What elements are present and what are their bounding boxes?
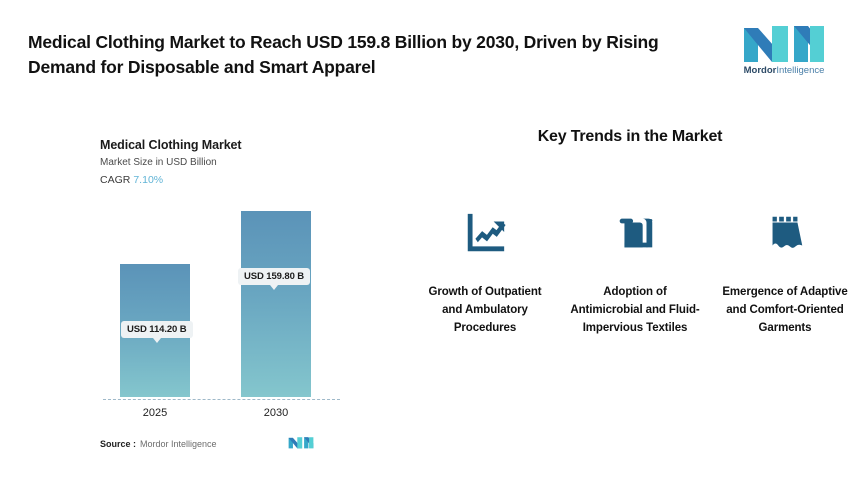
bar-chart-plot: USD 114.20 B USD 159.80 B 2025 2030 Sour… <box>0 195 400 465</box>
garment-skirt-icon <box>762 210 808 256</box>
source-label: Source : <box>100 439 136 449</box>
cagr-row: CAGR7.10% <box>100 174 163 186</box>
mordor-m-mark-icon <box>288 435 314 450</box>
x-axis-tick-2025: 2025 <box>120 407 190 419</box>
bar-value-label-2030: USD 159.80 B <box>238 268 310 285</box>
source-name: Mordor Intelligence <box>140 439 217 449</box>
trend-item-textiles: Adoption of Antimicrobial and Fluid-Impe… <box>570 210 700 337</box>
trends-panel: Key Trends in the Market Growth of Outpa… <box>400 118 860 458</box>
trend-item-growth: Growth of Outpatient and Ambulatory Proc… <box>420 210 550 337</box>
cagr-label: CAGR <box>100 174 130 186</box>
trend-item-garments: Emergence of Adaptive and Comfort-Orient… <box>720 210 850 337</box>
page-header: Medical Clothing Market to Reach USD 159… <box>0 0 860 105</box>
trend-label-garments: Emergence of Adaptive and Comfort-Orient… <box>720 284 850 337</box>
trend-label-growth: Growth of Outpatient and Ambulatory Proc… <box>420 284 550 337</box>
towel-textile-icon <box>612 210 658 256</box>
chart-title: Medical Clothing Market <box>100 138 241 152</box>
chart-panel: Medical Clothing Market Market Size in U… <box>0 125 400 465</box>
brand-logo: MordorIntelligence <box>736 24 832 86</box>
page-title: Medical Clothing Market to Reach USD 159… <box>28 30 718 81</box>
brand-wordmark-light: Intelligence <box>776 65 824 76</box>
brand-wordmark: MordorIntelligence <box>736 65 832 77</box>
trends-heading: Key Trends in the Market <box>400 128 860 146</box>
growth-chart-icon <box>462 210 508 256</box>
trend-label-textiles: Adoption of Antimicrobial and Fluid-Impe… <box>570 284 700 337</box>
mordor-m-mark-icon <box>742 24 826 62</box>
reference-line <box>103 399 340 400</box>
x-axis-tick-2030: 2030 <box>241 407 311 419</box>
bar-2030 <box>241 211 311 397</box>
brand-wordmark-bold: Mordor <box>744 65 777 76</box>
source-row: Source :Mordor Intelligence <box>100 439 330 449</box>
bar-value-label-2025: USD 114.20 B <box>121 321 193 338</box>
trend-list: Growth of Outpatient and Ambulatory Proc… <box>420 210 850 337</box>
chart-subtitle: Market Size in USD Billion <box>100 157 217 168</box>
cagr-value: 7.10% <box>133 174 163 186</box>
